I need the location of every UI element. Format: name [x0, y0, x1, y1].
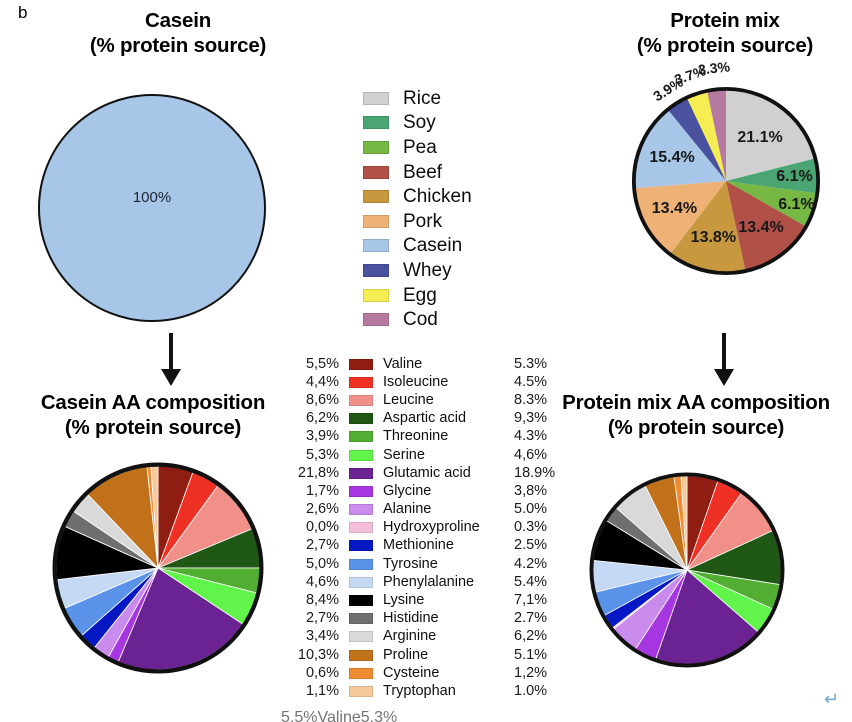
aa-legend-row: 1,1%Tryptophan1.0%	[281, 682, 566, 700]
aa-legend-row: 0,0%Hydroxyproline0.3%	[281, 519, 566, 537]
casein-aa-chart-title: Casein AA composition (% protein source)	[8, 390, 298, 440]
protein-mix-aa-title-main: Protein mix AA composition	[562, 391, 830, 414]
color-swatch-icon	[363, 264, 389, 277]
aa-mix-percent: 0.3%	[514, 520, 566, 535]
color-swatch-icon	[349, 595, 373, 606]
aa-mix-percent: 5.3%	[514, 357, 566, 372]
protein-mix-slice-value: 6.1%	[778, 197, 814, 213]
color-swatch-icon	[349, 686, 373, 697]
color-swatch-icon	[363, 215, 389, 228]
aa-mix-percent: 5.0%	[514, 502, 566, 517]
aa-mix-percent: 3,8%	[514, 484, 566, 499]
color-swatch-icon	[349, 431, 373, 442]
aa-name-label: Proline	[383, 648, 514, 663]
color-swatch-icon	[349, 468, 373, 479]
casein-aa-title-main: Casein AA composition	[41, 391, 265, 414]
aa-casein-percent: 5,5%	[281, 357, 339, 372]
figure-panel-b: b Casein (% protein source) Protein mix …	[0, 0, 852, 722]
protein-mix-slice-value: 13.4%	[652, 201, 697, 217]
aa-mix-percent: 4.3%	[514, 429, 566, 444]
aa-mix-percent: 2.7%	[514, 611, 566, 626]
aa-casein-percent: 3,4%	[281, 629, 339, 644]
casein-chart-title: Casein (% protein source)	[28, 8, 328, 58]
aa-legend-row: 2,7%Methionine2.5%	[281, 537, 566, 555]
aa-legend-row: 5,5%Valine5.3%	[281, 709, 566, 722]
aa-name-label: Histidine	[383, 611, 514, 626]
aa-mix-percent: 1.0%	[514, 684, 566, 699]
aa-mix-percent: 9,3%	[514, 411, 566, 426]
color-swatch-icon	[363, 190, 389, 203]
aa-mix-percent: 7,1%	[514, 593, 566, 608]
casein-source-pie-value-label: 100%	[38, 190, 266, 205]
aa-legend-row: 0,6%Cysteine1,2%	[281, 664, 566, 682]
aa-name-label: Valine	[383, 357, 514, 372]
protein-mix-slice-value: 21.1%	[737, 130, 782, 146]
color-swatch-icon	[349, 413, 373, 424]
aa-legend-row: 21,8%Glutamic acid18.9%	[281, 464, 566, 482]
casein-title-sub: (% protein source)	[28, 33, 328, 58]
aa-legend-row: 5,5%Valine5.3%	[281, 355, 566, 373]
aa-mix-percent: 6,2%	[514, 629, 566, 644]
aa-legend-row: 2,7%Histidine2.7%	[281, 610, 566, 628]
color-swatch-icon	[349, 613, 373, 624]
source-legend-label: Pea	[403, 138, 437, 157]
aa-name-label: Leucine	[383, 393, 514, 408]
aa-name-label: Valine	[317, 709, 360, 722]
aa-casein-percent: 5,0%	[281, 557, 339, 572]
aa-legend-row: 3,4%Arginine6,2%	[281, 628, 566, 646]
source-legend-item: Whey	[363, 258, 553, 283]
casein-aa-pie-chart	[52, 462, 264, 674]
protein-mix-slice-value: 3.3%	[698, 59, 731, 76]
color-swatch-icon	[349, 631, 373, 642]
aa-mix-percent: 4.5%	[514, 375, 566, 390]
source-legend-label: Rice	[403, 89, 441, 108]
aa-casein-percent: 8,6%	[281, 393, 339, 408]
source-legend-label: Egg	[403, 286, 437, 305]
aa-name-label: Phenylalanine	[383, 575, 514, 590]
protein-mix-aa-title-sub: (% protein source)	[540, 415, 852, 440]
source-legend-label: Soy	[403, 113, 436, 132]
aa-name-label: Isoleucine	[383, 375, 514, 390]
aa-mix-percent: 2.5%	[514, 538, 566, 553]
down-arrow-right-shaft	[722, 333, 726, 371]
aa-name-label: Serine	[383, 448, 514, 463]
aa-name-label: Tyrosine	[383, 557, 514, 572]
aa-casein-percent: 1,7%	[281, 484, 339, 499]
source-legend-item: Pork	[363, 209, 553, 234]
aa-casein-percent: 0,0%	[281, 520, 339, 535]
aa-name-label: Alanine	[383, 502, 514, 517]
aa-mix-percent: 18.9%	[514, 466, 566, 481]
source-legend-item: Chicken	[363, 184, 553, 209]
aa-casein-percent: 4,4%	[281, 375, 339, 390]
aa-legend-row: 4,4%Isoleucine4.5%	[281, 373, 566, 391]
aa-name-label: Glutamic acid	[383, 466, 514, 481]
amino-acid-legend-clipped-row: 5,5%Valine5.3%	[281, 709, 566, 722]
aa-casein-percent: 2,6%	[281, 502, 339, 517]
color-swatch-icon	[349, 359, 373, 370]
aa-legend-row: 8,6%Leucine8.3%	[281, 391, 566, 409]
down-arrow-left-shaft	[169, 333, 173, 371]
aa-casein-percent: 1,1%	[281, 684, 339, 699]
aa-name-label: Threonine	[383, 429, 514, 444]
aa-name-label: Methionine	[383, 538, 514, 553]
protein-mix-title-sub: (% protein source)	[600, 33, 850, 58]
aa-mix-percent: 1,2%	[514, 666, 566, 681]
source-legend-item: Egg	[363, 283, 553, 308]
aa-casein-percent: 2,7%	[281, 538, 339, 553]
color-swatch-icon	[363, 92, 389, 105]
color-swatch-icon	[363, 313, 389, 326]
color-swatch-icon	[349, 650, 373, 661]
aa-legend-row: 5,3%Serine4,6%	[281, 446, 566, 464]
color-swatch-icon	[349, 559, 373, 570]
color-swatch-icon	[349, 540, 373, 551]
aa-name-label: Tryptophan	[383, 684, 514, 699]
aa-casein-percent: 4,6%	[281, 575, 339, 590]
aa-name-label: Arginine	[383, 629, 514, 644]
casein-title-main: Casein	[145, 9, 211, 32]
casein-aa-pie-svg	[52, 462, 264, 674]
color-swatch-icon	[349, 504, 373, 515]
panel-letter: b	[18, 4, 27, 21]
aa-casein-percent: 5,3%	[281, 448, 339, 463]
source-legend-item: Rice	[363, 86, 553, 111]
aa-legend-row: 3,9%Threonine4.3%	[281, 428, 566, 446]
color-swatch-icon	[363, 239, 389, 252]
aa-mix-percent: 4,6%	[514, 448, 566, 463]
aa-casein-percent: 10,3%	[281, 648, 339, 663]
aa-legend-row: 5,0%Tyrosine4.2%	[281, 555, 566, 573]
aa-name-label: Glycine	[383, 484, 514, 499]
aa-casein-percent: 6,2%	[281, 411, 339, 426]
protein-mix-slice-value: 13.4%	[738, 220, 783, 236]
color-swatch-icon	[349, 377, 373, 388]
aa-legend-row: 1,7%Glycine3,8%	[281, 482, 566, 500]
aa-name-label: Aspartic acid	[383, 411, 514, 426]
aa-mix-percent: 5.1%	[514, 648, 566, 663]
color-swatch-icon	[349, 395, 373, 406]
source-legend-label: Cod	[403, 310, 438, 329]
aa-legend-row: 2,6%Alanine5.0%	[281, 501, 566, 519]
color-swatch-icon	[349, 668, 373, 679]
color-swatch-icon	[363, 289, 389, 302]
aa-legend-row: 10,3%Proline5.1%	[281, 646, 566, 664]
aa-casein-percent: 8,4%	[281, 593, 339, 608]
down-arrow-left-icon	[161, 369, 181, 386]
source-legend-item: Pea	[363, 135, 553, 160]
source-legend-label: Chicken	[403, 187, 472, 206]
aa-legend-row: 8,4%Lysine7,1%	[281, 591, 566, 609]
protein-mix-chart-title: Protein mix (% protein source)	[600, 8, 850, 58]
color-swatch-icon	[363, 141, 389, 154]
color-swatch-icon	[363, 166, 389, 179]
source-legend-item: Beef	[363, 160, 553, 185]
aa-name-label: Lysine	[383, 593, 514, 608]
aa-casein-percent: 0,6%	[281, 666, 339, 681]
aa-mix-percent: 8.3%	[514, 393, 566, 408]
protein-source-legend: RiceSoyPeaBeefChickenPorkCaseinWheyEggCo…	[363, 86, 553, 332]
aa-mix-percent: 5.4%	[514, 575, 566, 590]
casein-source-pie-chart	[38, 94, 266, 322]
source-legend-label: Whey	[403, 261, 452, 280]
aa-casein-percent: 3,9%	[281, 429, 339, 444]
protein-mix-aa-pie-chart	[589, 472, 785, 668]
protein-mix-title-main: Protein mix	[670, 9, 779, 32]
color-swatch-icon	[349, 486, 373, 497]
aa-name-label: Hydroxyproline	[383, 520, 514, 535]
aa-casein-percent: 5,5%	[281, 709, 317, 722]
protein-mix-aa-chart-title: Protein mix AA composition (% protein so…	[540, 390, 852, 440]
down-arrow-right-icon	[714, 369, 734, 386]
color-swatch-icon	[349, 522, 373, 533]
color-swatch-icon	[349, 450, 373, 461]
aa-legend-row: 4,6%Phenylalanine5.4%	[281, 573, 566, 591]
aa-mix-percent: 4.2%	[514, 557, 566, 572]
protein-mix-slice-value: 6.1%	[776, 169, 812, 185]
source-legend-item: Cod	[363, 307, 553, 332]
casein-aa-title-sub: (% protein source)	[8, 415, 298, 440]
aa-casein-percent: 21,8%	[281, 466, 339, 481]
source-legend-label: Casein	[403, 236, 462, 255]
source-legend-label: Pork	[403, 212, 442, 231]
aa-name-label: Cysteine	[383, 666, 514, 681]
aa-mix-percent: 5.3%	[361, 709, 397, 722]
source-legend-label: Beef	[403, 163, 442, 182]
color-swatch-icon	[363, 116, 389, 129]
protein-mix-aa-pie-svg	[589, 472, 785, 668]
return-mark-icon: ↵	[824, 690, 839, 708]
protein-mix-slice-value: 13.8%	[691, 230, 736, 246]
aa-casein-percent: 2,7%	[281, 611, 339, 626]
amino-acid-legend: 5,5%Valine5.3%4,4%Isoleucine4.5%8,6%Leuc…	[281, 355, 566, 701]
source-legend-item: Casein	[363, 234, 553, 259]
color-swatch-icon	[349, 577, 373, 588]
protein-mix-slice-value: 15.4%	[649, 150, 694, 166]
aa-legend-row: 6,2%Aspartic acid9,3%	[281, 410, 566, 428]
source-legend-item: Soy	[363, 111, 553, 136]
